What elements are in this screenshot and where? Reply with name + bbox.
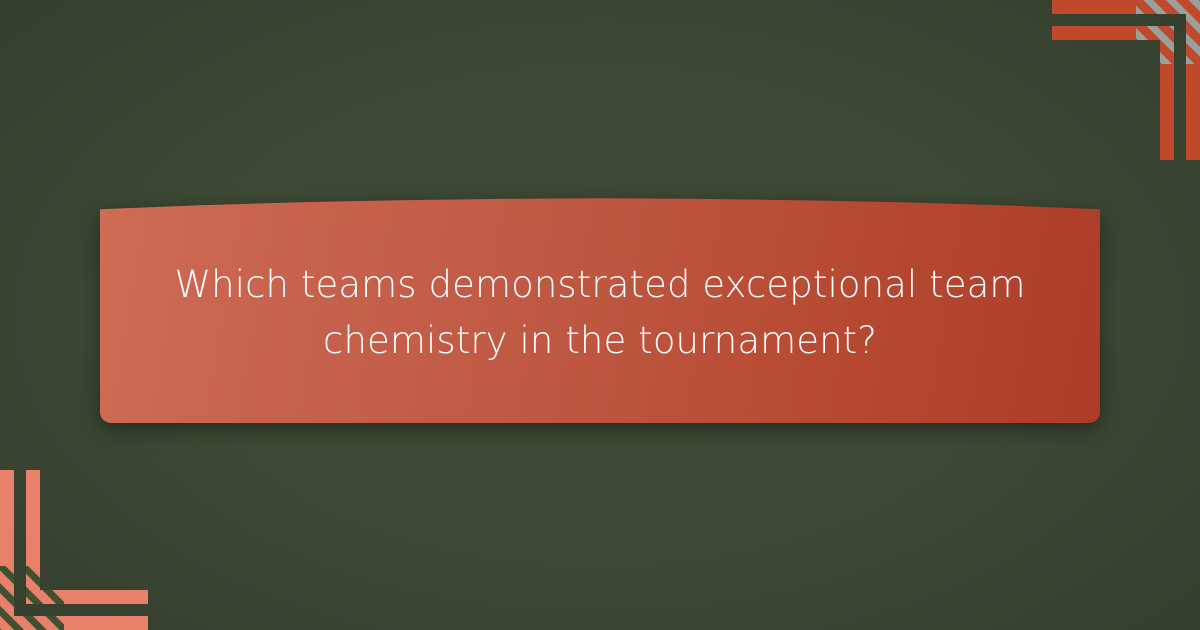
corner-bracket-top-right [1040, 0, 1200, 160]
corner-bracket-bottom-left-strokes [0, 470, 160, 630]
corner-bracket-top-right-strokes [1040, 0, 1200, 160]
corner-bracket-bottom-left [0, 470, 160, 630]
question-text: Which teams demonstrated exceptional tea… [158, 251, 1042, 371]
question-banner: Which teams demonstrated exceptional tea… [100, 198, 1100, 423]
question-card: Which teams demonstrated exceptional tea… [0, 0, 1200, 630]
